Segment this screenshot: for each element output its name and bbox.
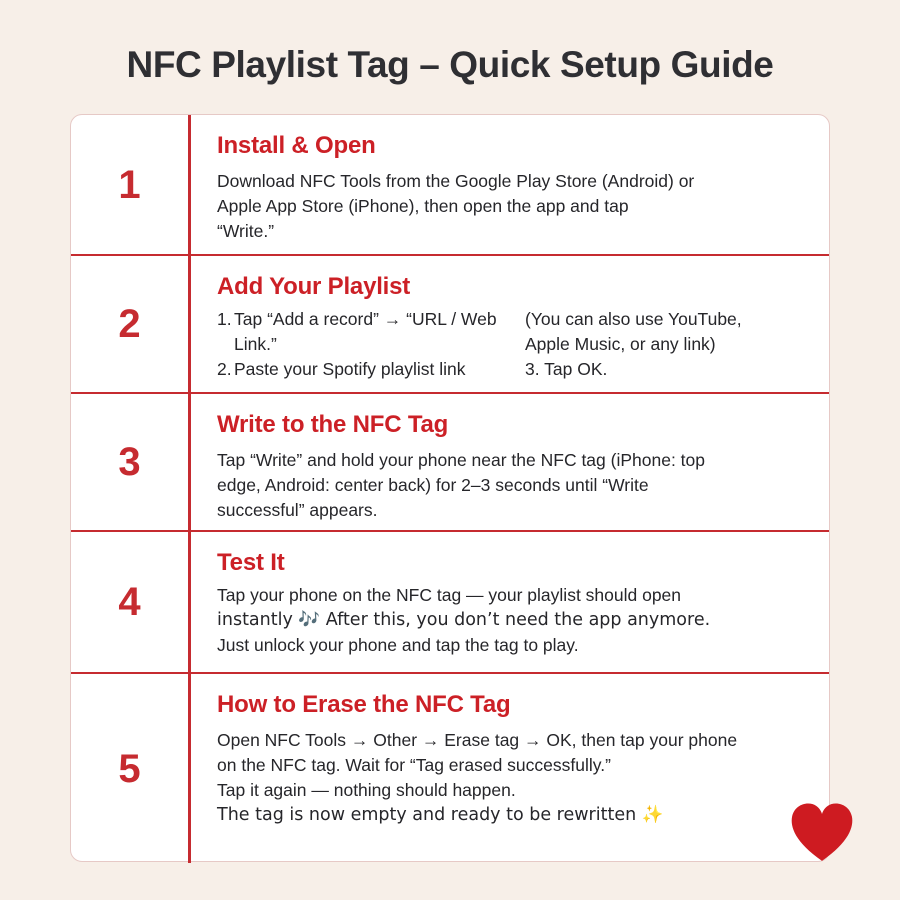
step-row: 4 Test It Tap your phone on the NFC tag …: [71, 532, 829, 674]
step-heading: Add Your Playlist: [217, 273, 805, 301]
step-text: Tap “Write” and hold your phone near the…: [217, 448, 805, 523]
step-text-line: Open NFC Tools → Other → Erase tag → OK,…: [217, 728, 805, 753]
list-item: 2. Paste your Spotify playlist link: [217, 357, 515, 382]
step-text: Tap your phone on the NFC tag — your pla…: [217, 583, 805, 658]
step-body: Install & Open Download NFC Tools from t…: [188, 115, 829, 254]
step-text-line-with-sparkle-icon: The tag is now empty and ready to be rew…: [217, 803, 805, 828]
step-row: 5 How to Erase the NFC Tag Open NFC Tool…: [71, 674, 829, 863]
list-item-label: Tap “Add a record” → “URL / Web Link.”: [234, 309, 497, 354]
step-number-cell: 4: [71, 532, 188, 672]
step-text-line: Apple Music, or any link): [525, 332, 805, 357]
step-text-line: Download NFC Tools from the Google Play …: [217, 169, 805, 194]
poster-root: NFC Playlist Tag – Quick Setup Guide 1 I…: [0, 0, 900, 900]
step-text-line: 3. Tap OK.: [525, 357, 805, 382]
page-title: NFC Playlist Tag – Quick Setup Guide: [0, 44, 900, 86]
step-text-line: “Write.”: [217, 219, 805, 244]
step-heading: Write to the NFC Tag: [217, 411, 805, 439]
step-text-line: Apple App Store (iPhone), then open the …: [217, 194, 805, 219]
step-number: 4: [118, 582, 140, 622]
step-text-line: Just unlock your phone and tap the tag t…: [217, 633, 805, 658]
step-heading: Test It: [217, 549, 805, 577]
step-text: Open NFC Tools → Other → Erase tag → OK,…: [217, 728, 805, 827]
step-number: 2: [118, 304, 140, 344]
step-text: Download NFC Tools from the Google Play …: [217, 169, 805, 244]
step-right-column: (You can also use YouTube, Apple Music, …: [515, 307, 805, 382]
steps-list: 1 Install & Open Download NFC Tools from…: [71, 115, 829, 861]
step-number: 5: [118, 749, 140, 789]
list-item: 1. Tap “Add a record” → “URL / Web Link.…: [217, 307, 515, 357]
steps-card: 1 Install & Open Download NFC Tools from…: [70, 114, 830, 862]
step-text-line: edge, Android: center back) for 2–3 seco…: [217, 473, 805, 498]
step-two-column: 1. Tap “Add a record” → “URL / Web Link.…: [217, 307, 805, 382]
step-row: 2 Add Your Playlist 1. Tap “Add a record…: [71, 256, 829, 394]
step-text-line: Tap your phone on the NFC tag — your pla…: [217, 583, 805, 608]
step-left-column: 1. Tap “Add a record” → “URL / Web Link.…: [217, 307, 515, 382]
ordered-instruction-list: 1. Tap “Add a record” → “URL / Web Link.…: [217, 307, 515, 382]
step-row: 1 Install & Open Download NFC Tools from…: [71, 115, 829, 256]
step-text-line: (You can also use YouTube,: [525, 307, 805, 332]
step-text-line-with-music-note-icon: instantly 🎶 After this, you don’t need t…: [217, 608, 805, 633]
step-number: 1: [118, 165, 140, 205]
step-number-cell: 1: [71, 115, 188, 254]
step-text-line: on the NFC tag. Wait for “Tag erased suc…: [217, 753, 805, 778]
step-number-cell: 3: [71, 394, 188, 530]
step-text-line: Tap “Write” and hold your phone near the…: [217, 448, 805, 473]
step-row: 3 Write to the NFC Tag Tap “Write” and h…: [71, 394, 829, 532]
step-body: How to Erase the NFC Tag Open NFC Tools …: [188, 674, 829, 863]
list-item-label: Paste your Spotify playlist link: [234, 359, 466, 379]
step-heading: Install & Open: [217, 132, 805, 160]
step-body: Write to the NFC Tag Tap “Write” and hol…: [188, 394, 829, 530]
list-marker: 1.: [217, 307, 232, 332]
step-number: 3: [118, 442, 140, 482]
list-marker: 2.: [217, 357, 232, 382]
step-text-line: successful” appears.: [217, 498, 805, 523]
step-body: Add Your Playlist 1. Tap “Add a record” …: [188, 256, 829, 392]
step-heading: How to Erase the NFC Tag: [217, 691, 805, 719]
column-divider: [188, 115, 191, 863]
step-number-cell: 2: [71, 256, 188, 392]
step-number-cell: 5: [71, 674, 188, 863]
step-body: Test It Tap your phone on the NFC tag — …: [188, 532, 829, 672]
heart-icon: [789, 801, 855, 863]
step-text-line: Tap it again — nothing should happen.: [217, 778, 805, 803]
